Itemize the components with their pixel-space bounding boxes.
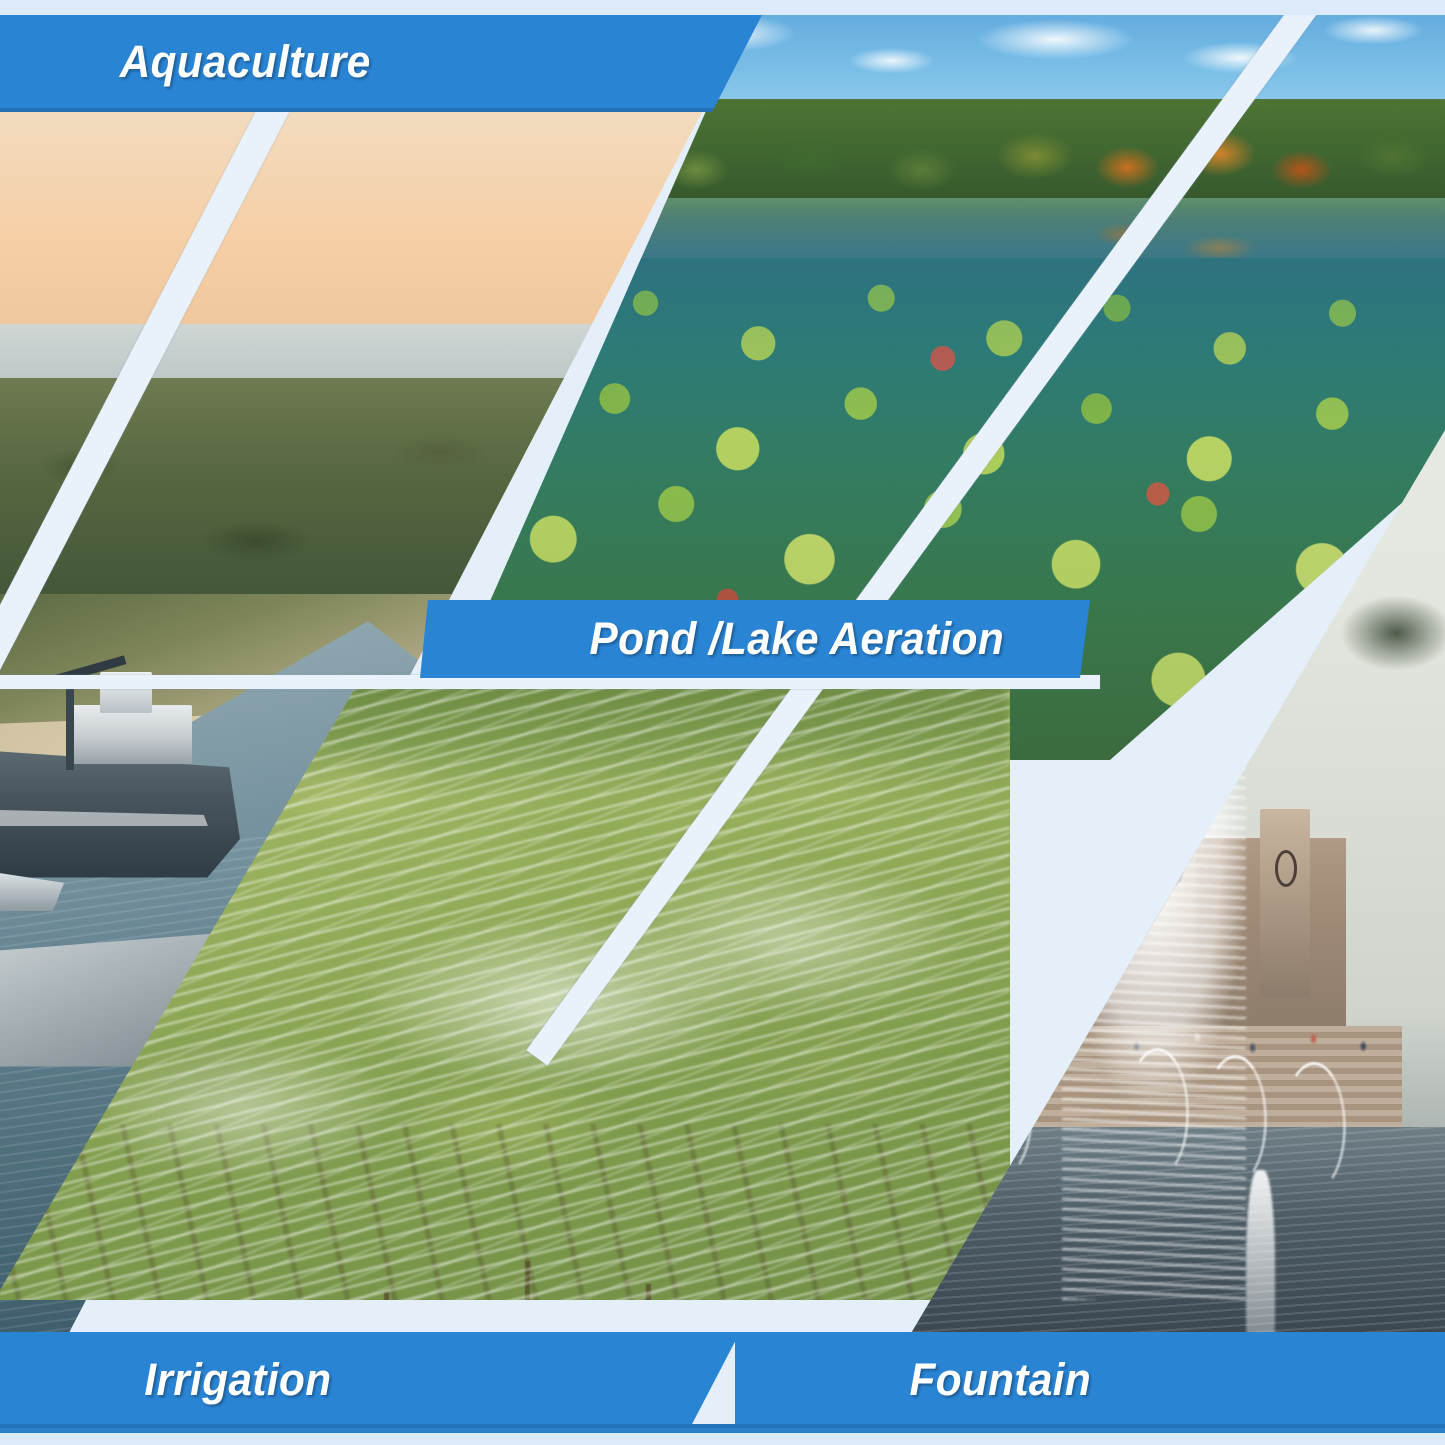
cargo-ship-deck <box>72 705 192 764</box>
label-aquaculture: Aquaculture <box>119 36 643 88</box>
bronze-wreath <box>1047 850 1070 888</box>
label-banner-pond-lake-aeration: Pond /Lake Aeration <box>420 600 1090 678</box>
top-edge-strip <box>0 0 1445 15</box>
label-irrigation: Irrigation <box>145 1354 595 1406</box>
cargo-ship-crane <box>66 682 75 770</box>
label-banner-aquaculture: Aquaculture <box>0 15 762 112</box>
label-fountain: Fountain <box>910 1354 1270 1406</box>
memorial-pillar <box>1260 809 1310 997</box>
label-pond-lake-aeration: Pond /Lake Aeration <box>505 613 1004 665</box>
label-banner-irrigation: Irrigation <box>0 1332 740 1428</box>
bottom-edge-strip <box>0 1428 1445 1445</box>
water-arc-jet <box>1282 1062 1346 1192</box>
label-banner-fountain: Fountain <box>735 1332 1445 1428</box>
application-collage: Aquaculture Pond /Lake Aeration Irrigati… <box>0 0 1445 1445</box>
memorial-pillar <box>1033 809 1083 997</box>
